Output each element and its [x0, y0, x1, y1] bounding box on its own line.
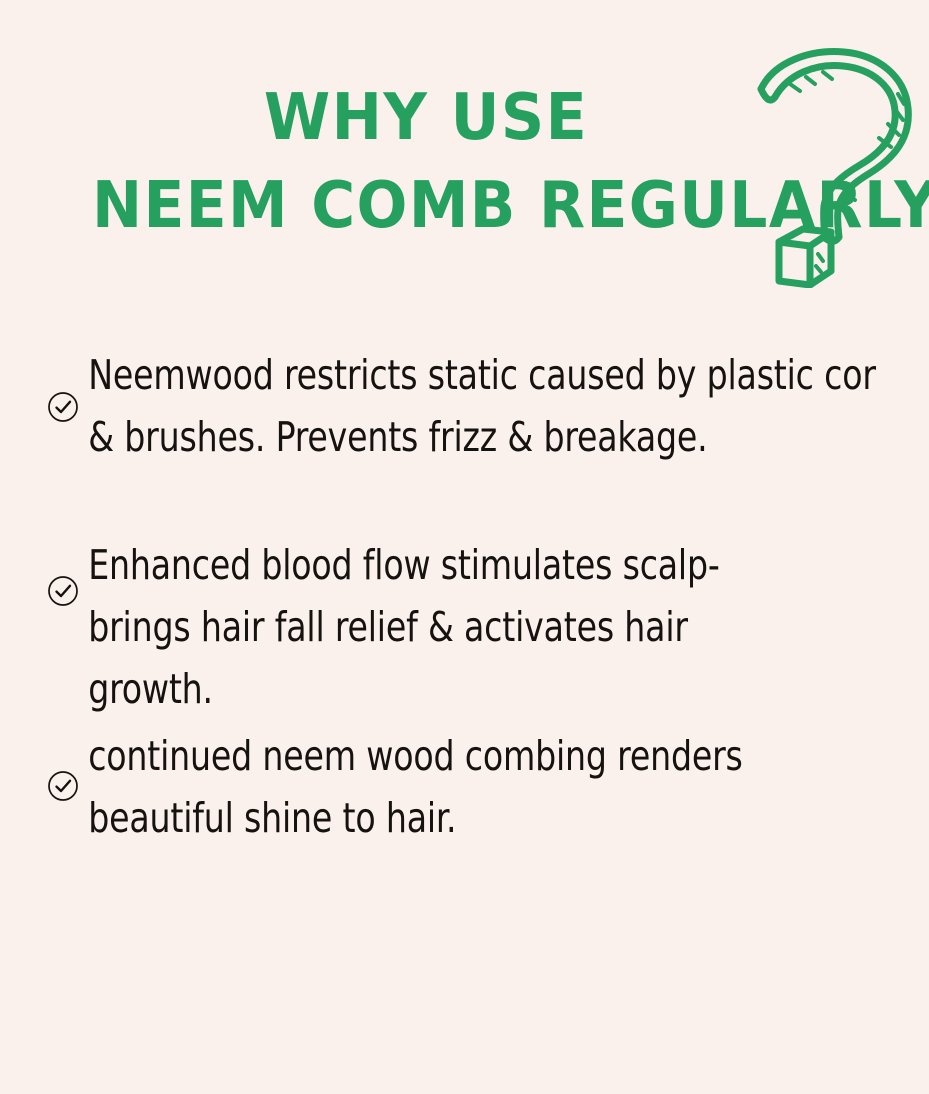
list-item: Enhanced blood flow stimulates scalp- br… [0, 534, 929, 720]
cube-dot-icon [779, 229, 831, 285]
list-item-text: Neemwood restricts static caused by plas… [0, 344, 836, 468]
list-item-text: Enhanced blood flow stimulates scalp- br… [0, 534, 836, 720]
list-item: continued neem wood combing renders beau… [0, 725, 929, 849]
list-item-text: continued neem wood combing renders beau… [0, 725, 836, 849]
poster-canvas: WHY USE NEEM COMB REGULARLY [0, 0, 929, 1094]
heading-line-1: WHY USE [26, 86, 827, 150]
list-item: Neemwood restricts static caused by plas… [0, 344, 929, 468]
question-mark-doodle-icon [748, 42, 920, 288]
